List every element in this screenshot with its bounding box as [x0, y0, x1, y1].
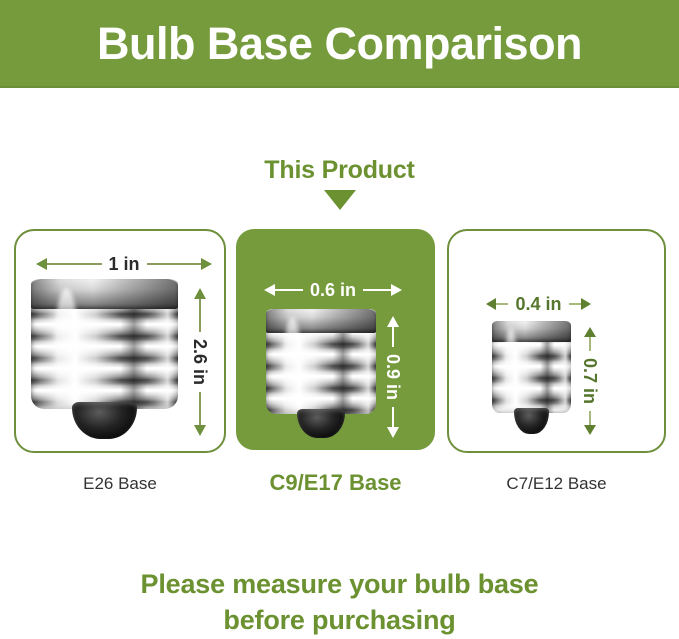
arrow-up-icon	[387, 316, 399, 327]
arrow-down-icon	[194, 425, 206, 436]
this-product-callout: This Product	[0, 157, 679, 210]
footer-note-line1: Please measure your bulb base	[0, 566, 679, 602]
arrow-down-icon	[584, 425, 596, 435]
dimension-height-e26: 2.6 in	[193, 288, 207, 436]
bulb-contact-tip	[514, 408, 549, 434]
bulb-contact-tip	[297, 409, 345, 438]
bulb-highlight	[505, 328, 518, 406]
dimension-line	[392, 327, 394, 347]
arrow-left-icon	[36, 258, 47, 270]
dimension-line	[199, 392, 201, 425]
card-caption-e26: E26 Base	[14, 474, 226, 494]
bulb-contact-tip	[72, 402, 137, 438]
dimension-height-c7e12: 0.7 in	[583, 327, 597, 435]
dimension-line	[589, 337, 591, 351]
arrow-right-icon	[201, 258, 212, 270]
dimension-height-label: 0.9 in	[384, 347, 402, 407]
dimension-line	[199, 299, 201, 332]
this-product-label: This Product	[0, 157, 679, 185]
arrow-right-icon	[391, 284, 402, 296]
screw-base-c9-icon	[266, 309, 376, 437]
arrow-down-icon	[387, 427, 399, 438]
footer-note: Please measure your bulb base before pur…	[0, 566, 679, 639]
dimension-width-label: 1 in	[102, 255, 147, 273]
screw-base-e26-icon	[31, 279, 178, 437]
page-title: Bulb Base Comparison	[97, 21, 582, 66]
dimension-width-c7e12: 0.4 in	[486, 297, 591, 311]
dimension-line	[392, 407, 394, 427]
bulb-collar	[266, 309, 376, 333]
dimension-line	[569, 303, 581, 305]
arrow-right-icon	[581, 298, 591, 310]
dimension-height-c9e17: 0.9 in	[386, 316, 400, 438]
dimension-width-label: 0.4 in	[508, 295, 568, 313]
screw-base-c7-icon	[492, 321, 571, 433]
card-caption-c9e17: C9/E17 Base	[236, 470, 435, 496]
bulb-highlight	[284, 317, 302, 407]
dimension-line	[47, 263, 102, 265]
arrow-left-icon	[264, 284, 275, 296]
bulb-highlight	[55, 288, 79, 399]
dimension-height-label: 2.6 in	[191, 332, 209, 392]
bulb-collar	[31, 279, 178, 309]
arrow-left-icon	[486, 298, 496, 310]
dimension-line	[275, 289, 303, 291]
dimension-line	[147, 263, 202, 265]
arrow-up-icon	[194, 288, 206, 299]
dimension-line	[496, 303, 508, 305]
dimension-width-c9e17: 0.6 in	[264, 283, 402, 297]
triangle-down-icon	[324, 190, 356, 210]
dimension-width-label: 0.6 in	[303, 281, 363, 299]
card-caption-c7e12: C7/E12 Base	[447, 474, 666, 494]
bulb-collar	[492, 321, 571, 342]
dimension-line	[363, 289, 391, 291]
dimension-width-e26: 1 in	[36, 257, 212, 271]
footer-note-line2: before purchasing	[0, 602, 679, 638]
header-banner: Bulb Base Comparison	[0, 0, 679, 88]
arrow-up-icon	[584, 327, 596, 337]
dimension-height-label: 0.7 in	[581, 351, 599, 411]
dimension-line	[589, 411, 591, 425]
